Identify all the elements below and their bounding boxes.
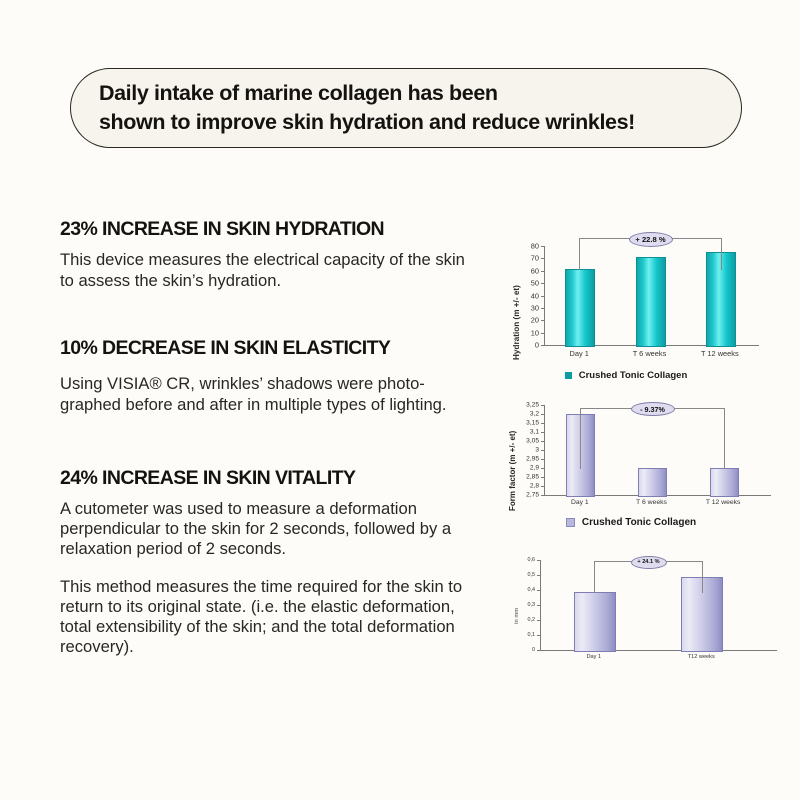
charts-column: Hydration (m +/- et) 01020304050607080 D… <box>500 232 780 674</box>
chart-hydration-y-tick-label: 20 <box>500 316 539 325</box>
chart-form-factor-bar <box>638 468 667 497</box>
chart-hydration-y-tick-label: 70 <box>500 254 539 263</box>
section-hydration-body: This device measures the electrical capa… <box>60 250 480 291</box>
chart-hydration-x-tick-label: T 6 weeks <box>614 349 684 358</box>
chart-form-factor-y-tick-label: 2,95 <box>500 456 539 463</box>
chart-hydration-y-tick-label: 80 <box>500 242 539 251</box>
section-vitality-body-2: This method measures the time required f… <box>60 577 480 657</box>
chart-vitality-y-tick-label: 0,1 <box>500 632 535 638</box>
section-vitality-title: 24% INCREASE IN SKIN VITALITY <box>60 467 480 490</box>
chart-vitality-y-tick-label: 0,6 <box>500 557 535 563</box>
chart-vitality-y-tick-label: 0 <box>500 647 535 653</box>
headline-line-2: shown to improve skin hydration and redu… <box>99 108 741 137</box>
section-hydration-title: 23% INCREASE IN SKIN HYDRATION <box>60 218 480 241</box>
chart-hydration-y-tick-label: 50 <box>500 279 539 288</box>
chart-vitality-x-tick-label: T12 weeks <box>648 654 756 660</box>
chart-form-factor-legend-label: Crushed Tonic Collagen <box>582 517 696 528</box>
chart-vitality-y-axis <box>540 560 541 650</box>
content-column: 23% INCREASE IN SKIN HYDRATION This devi… <box>60 218 480 663</box>
chart-vitality-bar <box>574 592 616 653</box>
chart-vitality-y-tick-label: 0,5 <box>500 572 535 578</box>
section-elasticity-body: Using VISIA® CR, wrinkles’ shadows were … <box>60 374 480 415</box>
chart-form-factor-y-tick-label: 3,1 <box>500 429 539 436</box>
chart-hydration-x-tick-label: T 12 weeks <box>685 349 755 358</box>
chart-hydration-y-tick-label: 60 <box>500 266 539 275</box>
chart-form-factor-comparison-bracket <box>580 408 725 469</box>
chart-form-factor-y-tick-label: 2,8 <box>500 483 539 490</box>
chart-form-factor-x-tick-label: Day 1 <box>544 499 616 506</box>
chart-form-factor-y-tick-label: 3,05 <box>500 438 539 445</box>
chart-form-factor-y-tick-label: 3 <box>500 447 539 454</box>
chart-vitality-y-tick-label: 0,4 <box>500 587 535 593</box>
chart-form-factor-legend: Crushed Tonic Collagen <box>482 517 780 528</box>
chart-form-factor-y-tick-label: 2,75 <box>500 492 539 499</box>
chart-hydration-y-tick-label: 40 <box>500 291 539 300</box>
section-hydration: 23% INCREASE IN SKIN HYDRATION This devi… <box>60 218 480 291</box>
chart-form-factor-annotation: - 9.37% <box>631 402 675 416</box>
chart-hydration-y-tick-label: 30 <box>500 303 539 312</box>
chart-hydration-y-tick-label: 0 <box>500 341 539 350</box>
chart-form-factor-x-tick-label: T 12 weeks <box>687 499 759 506</box>
chart-hydration-x-tick-label: Day 1 <box>544 349 614 358</box>
chart-form-factor-x-tick-label: T 6 weeks <box>616 499 688 506</box>
chart-hydration-y-tick-label: 10 <box>500 328 539 337</box>
chart-hydration-bar <box>565 269 595 347</box>
headline-line-1: Daily intake of marine collagen has been <box>99 79 741 108</box>
chart-vitality-annotation: + 24.1 % <box>631 556 667 569</box>
section-vitality: 24% INCREASE IN SKIN VITALITY A cutomete… <box>60 467 480 656</box>
legend-swatch-icon <box>565 372 572 379</box>
chart-form-factor-y-tick-label: 3,15 <box>500 420 539 427</box>
chart-form-factor-y-tick-label: 3,25 <box>500 402 539 409</box>
chart-hydration-legend: Crushed Tonic Collagen <box>472 370 780 381</box>
chart-form-factor-y-tick-label: 2,85 <box>500 474 539 481</box>
chart-hydration-bar <box>636 257 666 347</box>
chart-form-factor-bar <box>710 468 739 497</box>
chart-hydration-annotation: + 22.8 % <box>629 232 673 247</box>
headline-banner: Daily intake of marine collagen has been… <box>70 68 742 148</box>
section-elasticity: 10% DECREASE IN SKIN ELASTICITY Using VI… <box>60 337 480 415</box>
chart-vitality-y-tick-label: 0,2 <box>500 617 535 623</box>
chart-hydration-legend-label: Crushed Tonic Collagen <box>579 370 688 381</box>
section-elasticity-title: 10% DECREASE IN SKIN ELASTICITY <box>60 337 480 360</box>
chart-vitality-x-tick-label: Day 1 <box>540 654 648 660</box>
legend-swatch-icon <box>566 518 575 527</box>
chart-hydration-y-axis <box>544 246 545 345</box>
section-vitality-body: A cutometer was used to measure a deform… <box>60 499 480 559</box>
chart-form-factor-y-tick-label: 2,9 <box>500 465 539 472</box>
chart-form-factor-y-axis <box>544 405 545 495</box>
chart-vitality: in mm 00,10,20,30,40,50,6 Day 1T12 weeks… <box>500 544 780 674</box>
chart-hydration: Hydration (m +/- et) 01020304050607080 D… <box>500 232 780 381</box>
chart-vitality-y-tick-label: 0,3 <box>500 602 535 608</box>
chart-form-factor: Form factor (m +/- et) 2,752,82,852,92,9… <box>500 393 780 528</box>
chart-form-factor-y-tick-label: 3,2 <box>500 411 539 418</box>
